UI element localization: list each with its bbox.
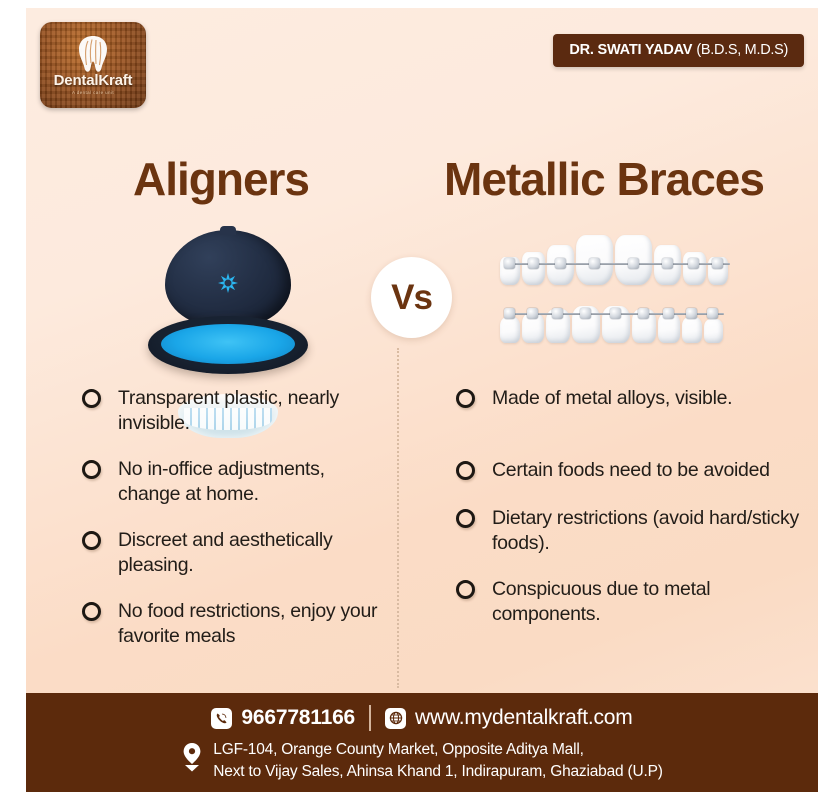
phone-number: 9667781166 xyxy=(241,706,355,730)
doctor-name: DR. SWATI YADAV xyxy=(569,42,692,58)
phone-icon xyxy=(211,708,232,729)
doctor-name-banner: DR. SWATI YADAV (B.D.S, M.D.S) xyxy=(553,34,804,67)
list-item: Dietary restrictions (avoid hard/sticky … xyxy=(446,506,806,555)
website-contact[interactable]: www.mydentalkraft.com xyxy=(385,706,633,730)
clinic-address: LGF-104, Orange County Market, Opposite … xyxy=(213,739,662,784)
list-item-text: No in-office adjustments, change at home… xyxy=(118,458,325,505)
aligners-feature-list: Transparent plastic, nearly invisible. N… xyxy=(72,386,392,671)
list-item: No in-office adjustments, change at home… xyxy=(72,457,392,506)
starburst-icon xyxy=(215,270,241,301)
poster-canvas: DentalKraft A dental care unit DR. SWATI… xyxy=(26,8,818,792)
versus-badge: Vs xyxy=(371,257,452,338)
bullet-ring-icon xyxy=(82,389,101,408)
contact-footer: 9667781166 www.mydentalkraft.com xyxy=(26,693,818,792)
address-line-1: LGF-104, Orange County Market, Opposite … xyxy=(213,741,583,758)
list-item: Made of metal alloys, visible. xyxy=(446,386,806,411)
footer-separator xyxy=(369,705,371,731)
aligner-case-image xyxy=(148,230,308,375)
bullet-ring-icon xyxy=(456,580,475,599)
address-line-2: Next to Vijay Sales, Ahinsa Khand 1, Ind… xyxy=(213,763,662,780)
bullet-ring-icon xyxy=(82,602,101,621)
bullet-ring-icon xyxy=(82,460,101,479)
aligner-case-lid xyxy=(165,230,291,328)
brand-logo: DentalKraft A dental care unit xyxy=(40,22,146,108)
list-item-text: Transparent plastic, nearly invisible. xyxy=(118,387,339,434)
column-divider xyxy=(397,348,399,688)
phone-contact[interactable]: 9667781166 xyxy=(211,706,355,730)
case-hinge-nub xyxy=(220,226,236,235)
list-item: No food restrictions, enjoy your favorit… xyxy=(72,599,392,648)
logo-wordmark: DentalKraft xyxy=(40,72,146,89)
list-item: Transparent plastic, nearly invisible. xyxy=(72,386,392,435)
bullet-ring-icon xyxy=(456,461,475,480)
braces-feature-list: Made of metal alloys, visible. Certain f… xyxy=(446,386,806,648)
list-item-text: Certain foods need to be avoided xyxy=(492,459,770,481)
footer-contact-row: 9667781166 www.mydentalkraft.com xyxy=(26,705,818,731)
doctor-credentials: (B.D.S, M.D.S) xyxy=(696,42,788,58)
aligner-case-base xyxy=(148,316,308,374)
list-item-text: Dietary restrictions (avoid hard/sticky … xyxy=(492,507,799,554)
list-item: Certain foods need to be avoided xyxy=(446,458,806,483)
list-item: Conspicuous due to metal components. xyxy=(446,577,806,626)
bullet-ring-icon xyxy=(456,509,475,528)
case-inner-tray xyxy=(161,324,295,364)
list-item-text: No food restrictions, enjoy your favorit… xyxy=(118,600,377,647)
left-column-title: Aligners xyxy=(56,152,386,206)
logo-tagline: A dental care unit xyxy=(40,90,146,95)
bullet-ring-icon xyxy=(456,389,475,408)
list-item-text: Discreet and aesthetically pleasing. xyxy=(118,529,332,576)
location-pin-icon xyxy=(181,742,203,777)
footer-address-row: LGF-104, Orange County Market, Opposite … xyxy=(26,739,818,784)
list-item-text: Conspicuous due to metal components. xyxy=(492,578,710,625)
versus-label: Vs xyxy=(391,278,432,318)
list-item: Discreet and aesthetically pleasing. xyxy=(72,528,392,577)
right-column-title: Metallic Braces xyxy=(404,152,804,206)
bullet-ring-icon xyxy=(82,531,101,550)
list-item-text: Made of metal alloys, visible. xyxy=(492,387,732,409)
metal-braces-image xyxy=(498,233,738,353)
upper-teeth-row xyxy=(498,233,738,285)
lower-teeth-row xyxy=(498,291,738,343)
globe-icon xyxy=(385,708,406,729)
website-url: www.mydentalkraft.com xyxy=(415,706,633,730)
